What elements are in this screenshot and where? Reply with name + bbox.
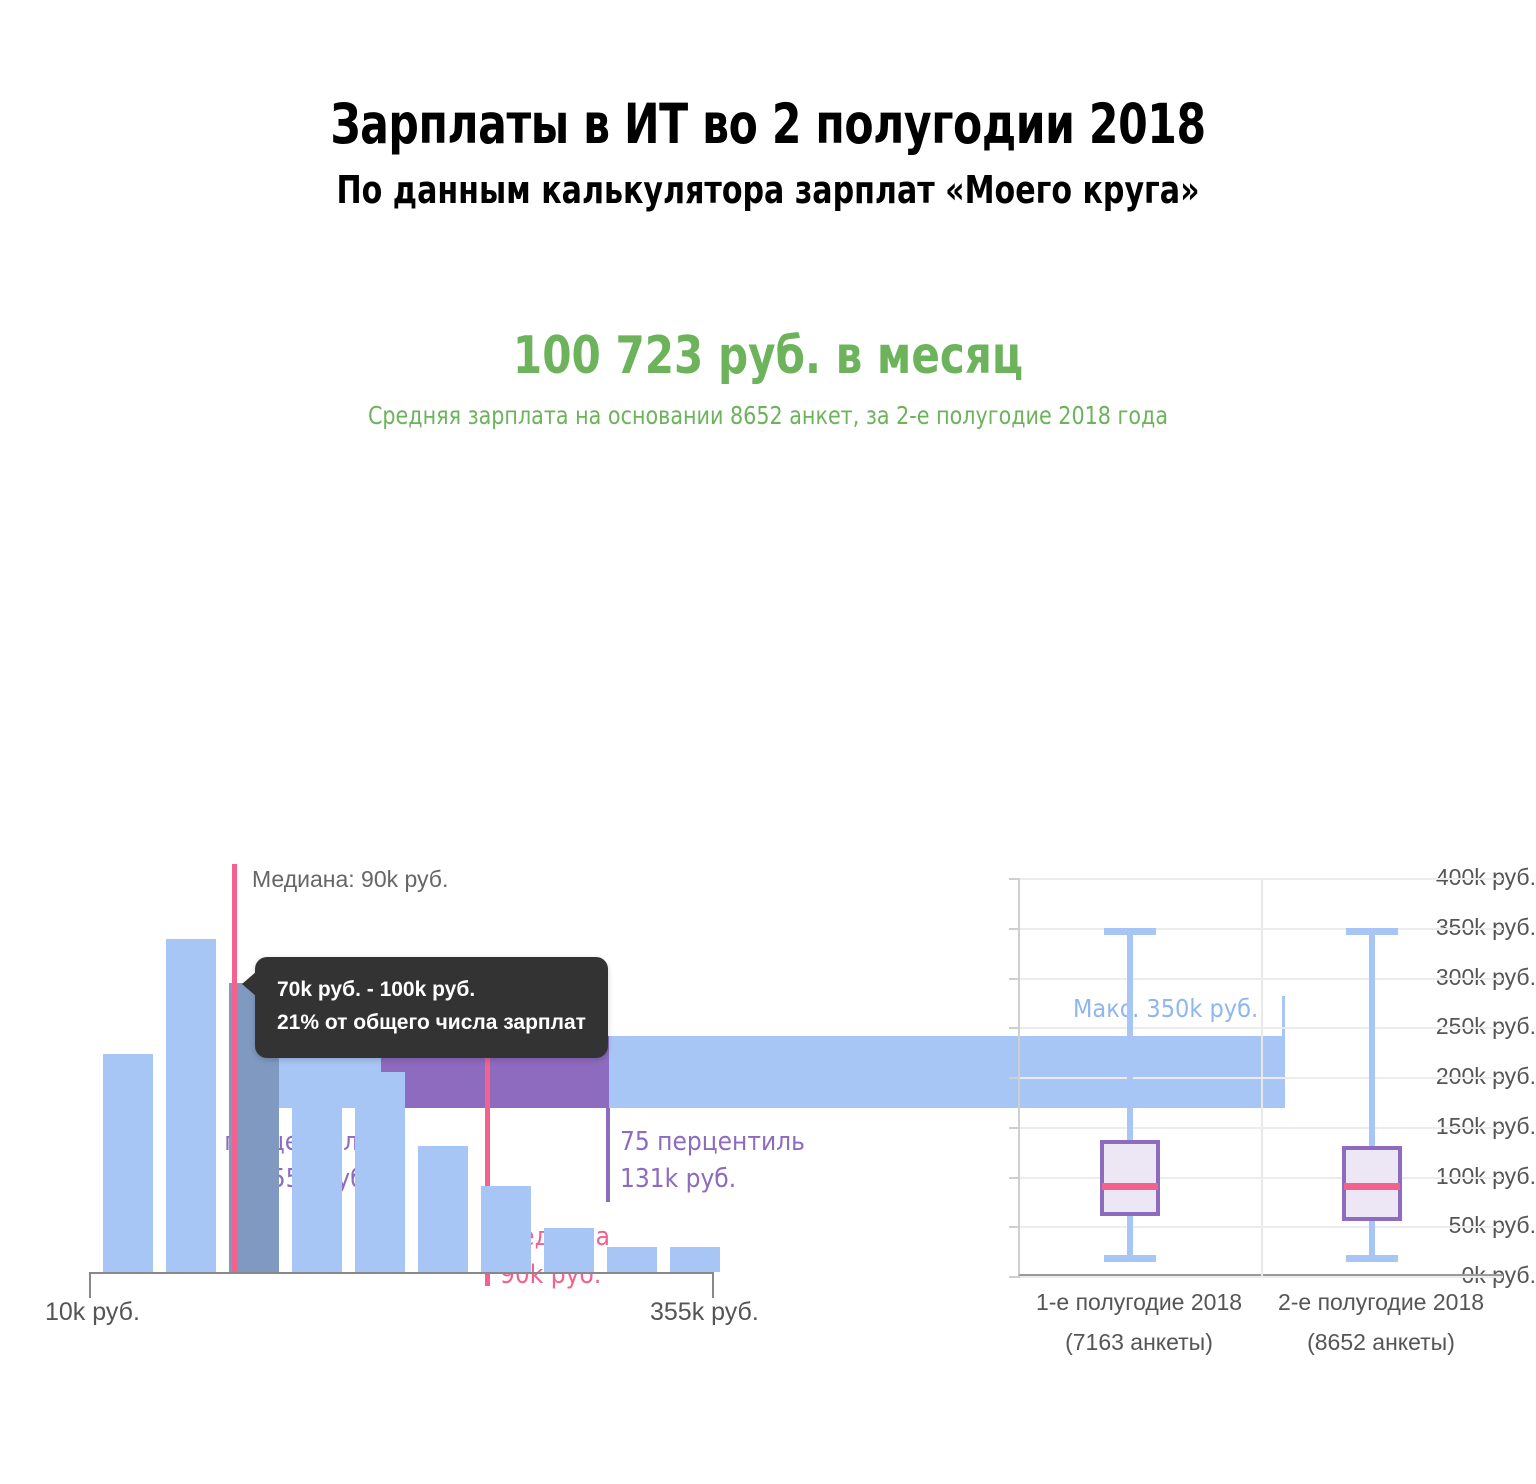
tooltip-bin-range: 70k руб. - 100k руб.	[277, 974, 586, 1007]
salary-range-band: Мин. 14k руб. Макс. 350k руб. 25 перцент…	[0, 490, 1536, 810]
histogram-median-label: Медиана: 90k руб.	[252, 866, 448, 893]
histogram-plot-area	[0, 856, 780, 1276]
average-salary-block: 100 723 руб. в месяц Средняя зарплата на…	[0, 328, 1536, 430]
boxplot-upper-cap	[1104, 928, 1156, 935]
boxplot-upper-whisker	[1369, 928, 1375, 1146]
boxplot-box-group[interactable]	[1020, 878, 1240, 1276]
boxplot-box-group[interactable]	[1262, 878, 1482, 1276]
histogram-x-max-label: 355k руб.	[650, 1298, 759, 1327]
average-salary-value: 100 723 руб. в месяц	[77, 328, 1459, 385]
boxplot-median-line	[1102, 1183, 1158, 1190]
average-salary-note: Средняя зарплата на основании 8652 анкет…	[61, 401, 1474, 430]
tooltip-share: 21% от общего числа зарплат	[277, 1007, 586, 1040]
boxplot-y-tick-mark	[1009, 1276, 1020, 1278]
page-title: Зарплаты в ИТ во 2 полугодии 2018	[108, 96, 1429, 154]
header-block: Зарплаты в ИТ во 2 полугодии 2018 По дан…	[0, 96, 1536, 212]
halfyear-comparison-boxplot: 0k руб.50k руб.100k руб.150k руб.200k ру…	[890, 856, 1536, 1376]
boxplot-x-label-count: (7163 анкеты)	[1018, 1322, 1260, 1362]
page-subtitle: По данным калькулятора зарплат «Моего кр…	[92, 170, 1444, 212]
histogram-bar[interactable]	[544, 1228, 594, 1272]
histogram-x-axis	[89, 1272, 714, 1298]
boxplot-x-label-period: 2-е полугодие 2018	[1260, 1282, 1502, 1322]
histogram-bar[interactable]	[481, 1186, 531, 1272]
histogram-x-axis-labels: 10k руб. 355k руб.	[0, 1298, 780, 1338]
histogram-bar[interactable]	[418, 1146, 468, 1272]
salary-histogram: Медиана: 90k руб. 70k руб. - 100k руб. 2…	[0, 856, 780, 1326]
boxplot-lower-cap	[1346, 1255, 1398, 1262]
boxplot-upper-whisker	[1127, 928, 1133, 1140]
histogram-x-min-label: 10k руб.	[45, 1298, 140, 1327]
boxplot-lower-cap	[1104, 1255, 1156, 1262]
boxplot-median-line	[1344, 1183, 1400, 1190]
histogram-tooltip: 70k руб. - 100k руб. 21% от общего числа…	[255, 957, 608, 1058]
boxplot-x-axis-labels: 1-е полугодие 2018(7163 анкеты)2-е полуг…	[1018, 1282, 1503, 1372]
boxplot-x-label: 1-е полугодие 2018(7163 анкеты)	[1018, 1282, 1260, 1363]
histogram-bar[interactable]	[355, 1072, 405, 1272]
histogram-bar[interactable]	[166, 939, 216, 1272]
boxplot-upper-cap	[1346, 928, 1398, 935]
boxplot-x-label-period: 1-е полугодие 2018	[1018, 1282, 1260, 1322]
histogram-bar[interactable]	[103, 1054, 153, 1272]
histogram-bar[interactable]	[670, 1247, 720, 1272]
histogram-bar[interactable]	[607, 1247, 657, 1272]
boxplot-x-label: 2-е полугодие 2018(8652 анкеты)	[1260, 1282, 1502, 1363]
boxplot-plot-area	[1018, 878, 1503, 1276]
boxplot-gridline	[1020, 1276, 1503, 1278]
histogram-median-line	[232, 864, 237, 1272]
boxplot-x-label-count: (8652 анкеты)	[1260, 1322, 1502, 1362]
boxplot-box[interactable]	[1100, 1140, 1160, 1217]
